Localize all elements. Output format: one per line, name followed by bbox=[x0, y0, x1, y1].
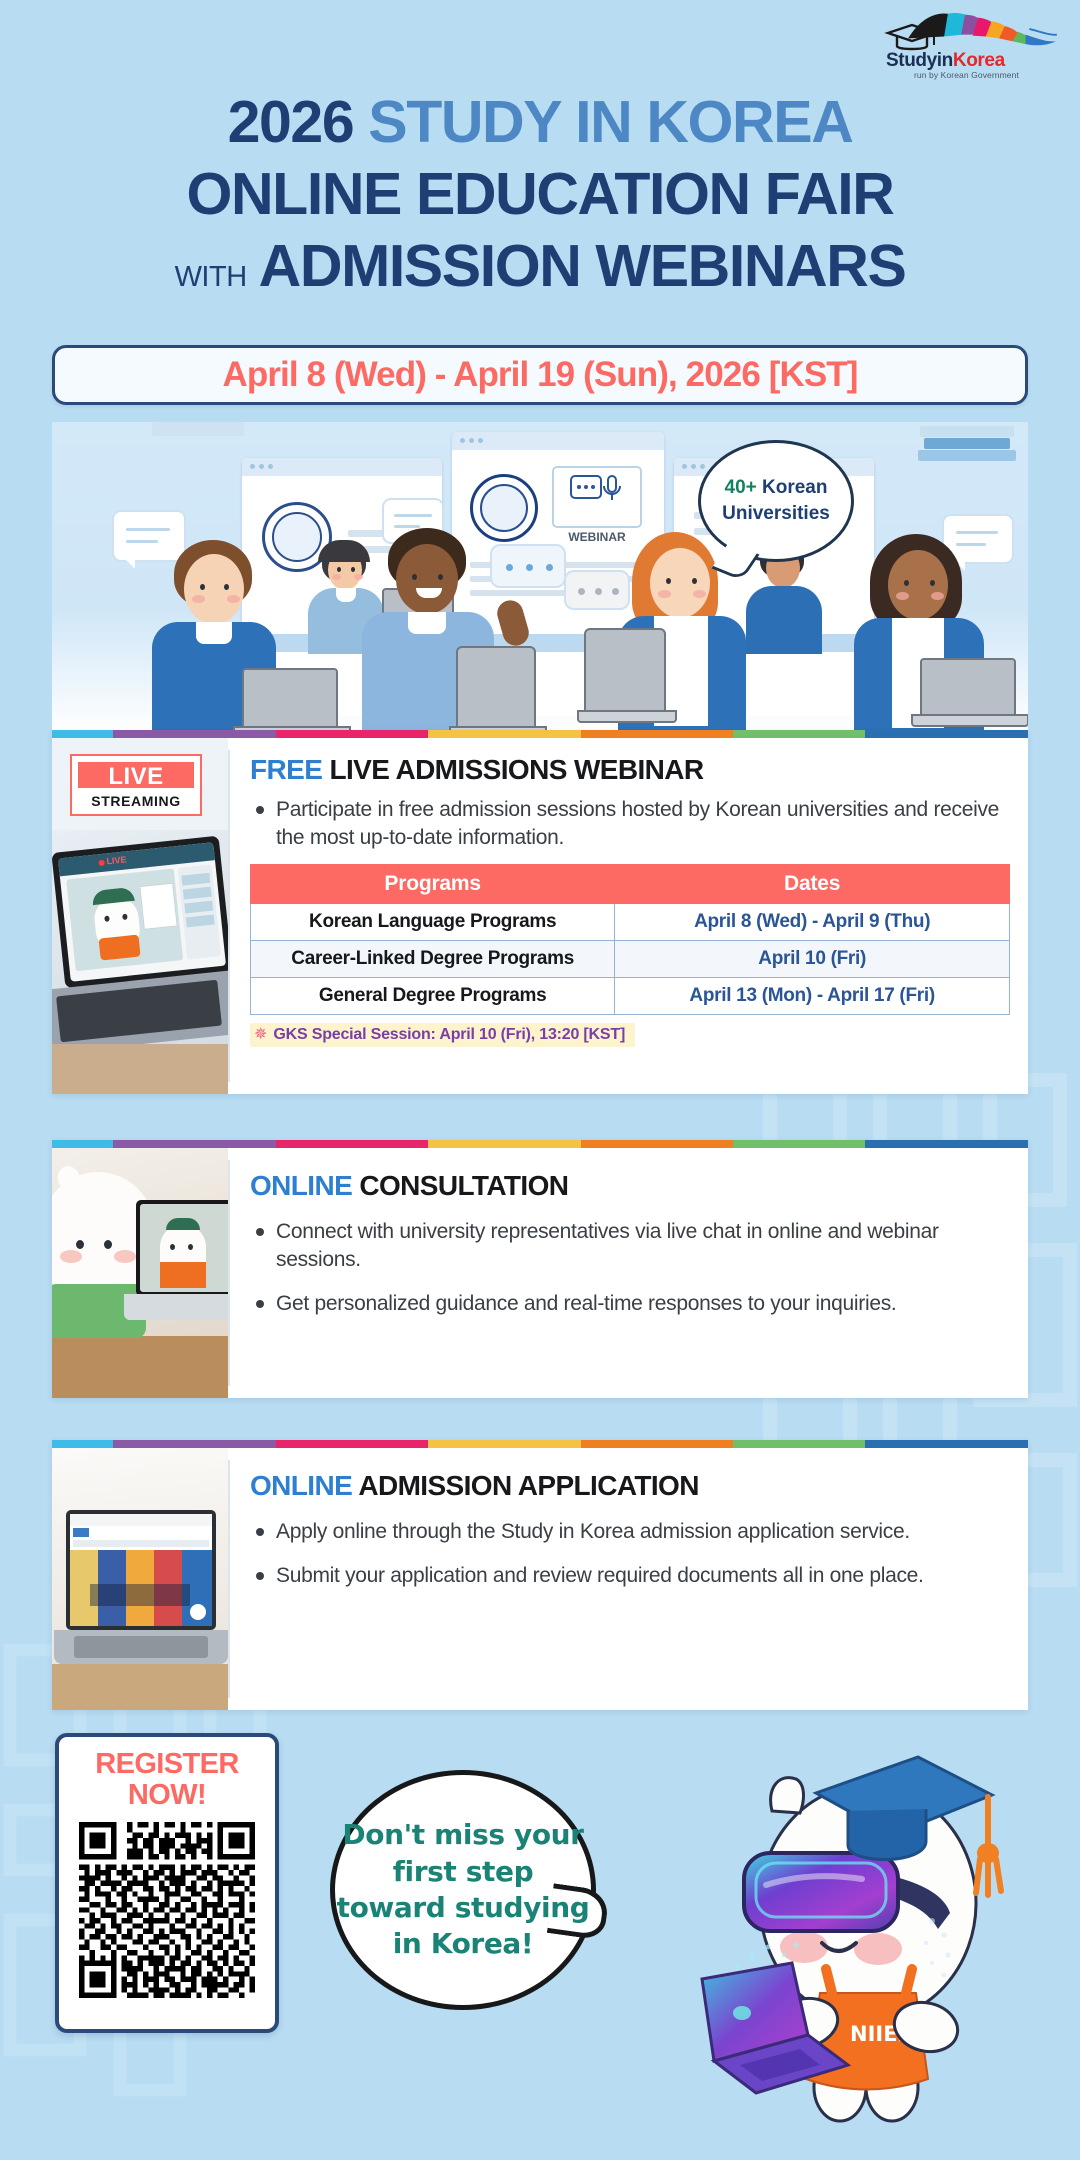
card-online-admission-application: ONLINE ADMISSION APPLICATION Apply onlin… bbox=[52, 1440, 1028, 1710]
card-title-online: ONLINE bbox=[250, 1470, 352, 1501]
date-banner-text: April 8 (Wed) - April 19 (Sun), 2026 [KS… bbox=[222, 355, 857, 395]
rainbow-bar bbox=[52, 1140, 1028, 1148]
register-line-1: REGISTER bbox=[95, 1749, 238, 1780]
books-stack bbox=[910, 422, 1020, 476]
table-header-row: Programs Dates bbox=[251, 865, 1010, 904]
bubble-universities: Universities bbox=[722, 501, 830, 527]
table-cell-date: April 13 (Mon) - April 17 (Fri) bbox=[615, 978, 1010, 1015]
card-thumb-application bbox=[52, 1448, 228, 1710]
logo-subtitle: run by Korean Government bbox=[914, 70, 1074, 80]
register-line-2: NOW! bbox=[95, 1780, 238, 1811]
card-thumb-consultation bbox=[52, 1148, 228, 1398]
bullet-item: Apply online through the Study in Korea … bbox=[250, 1518, 1006, 1546]
bullet-item: Participate in free admission sessions h… bbox=[250, 796, 1010, 852]
card-title-application: ONLINE ADMISSION APPLICATION bbox=[250, 1470, 1006, 1502]
card-live-webinar: LIVE STREAMING LIVE bbox=[52, 730, 1028, 1094]
bubble-korean: Korean bbox=[762, 477, 827, 498]
hero-illustration: WEBINAR bbox=[52, 422, 1028, 732]
table-cell-date: April 8 (Wed) - April 9 (Thu) bbox=[615, 904, 1010, 941]
hero-student-4 bbox=[830, 534, 1028, 732]
card-main-live: FREE LIVE ADMISSIONS WEBINAR Participate… bbox=[228, 738, 1028, 1094]
hero-student-1 bbox=[130, 540, 320, 732]
date-banner: April 8 (Wed) - April 19 (Sun), 2026 [KS… bbox=[52, 345, 1028, 405]
card-bullets-live: Participate in free admission sessions h… bbox=[250, 796, 1010, 852]
rainbow-bar bbox=[52, 730, 1028, 738]
card-title-consultation-rest: CONSULTATION bbox=[359, 1170, 568, 1201]
card-title-online: ONLINE bbox=[250, 1170, 352, 1201]
title-admission-webinars: ADMISSION WEBINARS bbox=[259, 236, 906, 296]
title-year: 2026 bbox=[228, 89, 354, 155]
rainbow-bar bbox=[52, 1440, 1028, 1448]
card-main-application: ONLINE ADMISSION APPLICATION Apply onlin… bbox=[228, 1448, 1028, 1710]
consultation-mascot-image bbox=[52, 1148, 228, 1398]
card-divider bbox=[228, 1160, 230, 1386]
title-line-2: ONLINE EDUCATION FAIR bbox=[0, 164, 1080, 224]
mascot-speech-text: Don't miss your first step toward studyi… bbox=[335, 1817, 591, 1963]
table-row: Career-Linked Degree Programs April 10 (… bbox=[251, 941, 1010, 978]
table-row: General Degree Programs April 13 (Mon) -… bbox=[251, 978, 1010, 1015]
application-laptop-image bbox=[52, 1448, 228, 1710]
page-title: 2026 STUDY IN KOREA ONLINE EDUCATION FAI… bbox=[0, 92, 1080, 297]
logo-graduation-cap-icon bbox=[884, 22, 942, 52]
table-cell-program: General Degree Programs bbox=[251, 978, 615, 1015]
programs-table: Programs Dates Korean Language Programs … bbox=[250, 864, 1010, 1015]
card-main-consultation: ONLINE CONSULTATION Connect with univers… bbox=[228, 1148, 1028, 1398]
sparkle-icon: ✵ bbox=[254, 1027, 267, 1043]
card-title-application-rest: ADMISSION APPLICATION bbox=[358, 1470, 699, 1501]
card-thumb-live: LIVE STREAMING LIVE bbox=[52, 738, 228, 1094]
table-cell-date: April 10 (Fri) bbox=[615, 941, 1010, 978]
live-badge-label: LIVE bbox=[76, 760, 196, 790]
title-line-3: WITH ADMISSION WEBINARS bbox=[0, 236, 1080, 296]
hero-student-3 bbox=[592, 532, 798, 732]
bullet-item: Connect with university representatives … bbox=[250, 1218, 1006, 1274]
table-row: Korean Language Programs April 8 (Wed) -… bbox=[251, 904, 1010, 941]
logo-text-korea: Korea bbox=[953, 50, 1005, 71]
card-title-live-rest: LIVE ADMISSIONS WEBINAR bbox=[329, 754, 703, 785]
register-now-box[interactable]: REGISTER NOW! bbox=[55, 1733, 279, 2033]
live-streaming-badge: LIVE STREAMING bbox=[70, 754, 202, 816]
mascot-speech-bubble: Don't miss your first step toward studyi… bbox=[330, 1770, 596, 2010]
title-with-word: WITH bbox=[175, 263, 247, 293]
bullet-item: Submit your application and review requi… bbox=[250, 1562, 1006, 1590]
live-stream-laptop-image: LIVE bbox=[52, 830, 228, 1094]
card-online-consultation: ONLINE CONSULTATION Connect with univers… bbox=[52, 1140, 1028, 1398]
card-title-consultation: ONLINE CONSULTATION bbox=[250, 1170, 1006, 1202]
register-title: REGISTER NOW! bbox=[95, 1749, 238, 1812]
bubble-count: 40+ bbox=[725, 477, 757, 498]
thumb-live-label: LIVE bbox=[106, 854, 127, 866]
bullet-item: Get personalized guidance and real-time … bbox=[250, 1290, 1006, 1318]
qr-code[interactable] bbox=[79, 1822, 255, 1998]
studyinkorea-logo: StudyinKorea run by Korean Government bbox=[862, 10, 1062, 78]
streaming-badge-label: STREAMING bbox=[76, 790, 196, 812]
table-cell-program: Korean Language Programs bbox=[251, 904, 615, 941]
card-title-live: FREE LIVE ADMISSIONS WEBINAR bbox=[250, 754, 1010, 786]
gks-note-text: GKS Special Session: April 10 (Fri), 13:… bbox=[273, 1026, 625, 1044]
title-line-1: 2026 STUDY IN KOREA bbox=[0, 92, 1080, 152]
universities-count-bubble: 40+ Korean Universities bbox=[698, 440, 854, 562]
niied-mascot: NIIED bbox=[700, 1735, 1030, 2130]
table-header-dates: Dates bbox=[615, 865, 1010, 904]
table-header-programs: Programs bbox=[251, 865, 615, 904]
table-cell-program: Career-Linked Degree Programs bbox=[251, 941, 615, 978]
logo-text-studyin: Studyin bbox=[886, 50, 953, 71]
card-bullets-application: Apply online through the Study in Korea … bbox=[250, 1518, 1006, 1590]
card-bullets-consultation: Connect with university representatives … bbox=[250, 1218, 1006, 1318]
gks-note: ✵ GKS Special Session: April 10 (Fri), 1… bbox=[250, 1023, 635, 1047]
title-study-in-korea: STUDY IN KOREA bbox=[368, 89, 852, 155]
logo-wordmark: StudyinKorea bbox=[886, 50, 1066, 72]
hero-student-2 bbox=[340, 528, 550, 732]
card-divider bbox=[228, 1460, 230, 1698]
card-title-free: FREE bbox=[250, 754, 322, 785]
card-divider bbox=[228, 750, 230, 1082]
